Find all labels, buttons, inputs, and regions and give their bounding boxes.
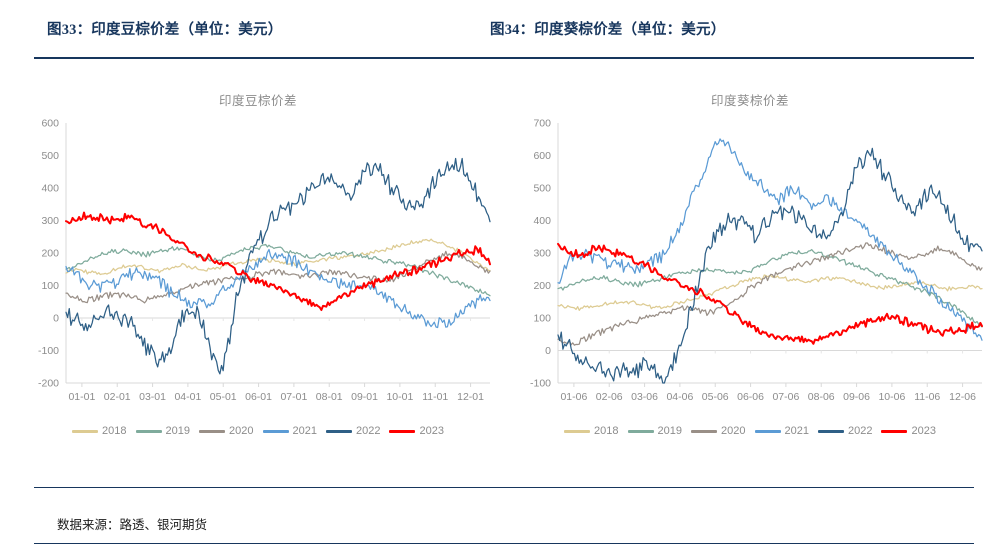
legend-item-2020[interactable]: 2020	[199, 425, 253, 437]
svg-text:500: 500	[533, 183, 551, 195]
svg-text:-100: -100	[530, 378, 551, 390]
legend-item-2020[interactable]: 2020	[691, 425, 745, 437]
legend-label-2021: 2021	[785, 425, 809, 437]
legend-item-2019[interactable]: 2019	[628, 425, 682, 437]
legend-swatch-2022	[326, 430, 352, 433]
svg-text:600: 600	[533, 150, 551, 162]
legend-label-2020: 2020	[721, 425, 745, 437]
legend-label-2023: 2023	[911, 425, 935, 437]
svg-text:07-06: 07-06	[772, 391, 799, 403]
svg-text:01-06: 01-06	[560, 391, 587, 403]
svg-text:12-01: 12-01	[457, 391, 484, 403]
svg-text:0: 0	[53, 313, 59, 325]
legend-item-2018[interactable]: 2018	[564, 425, 618, 437]
svg-text:05-06: 05-06	[702, 391, 729, 403]
chart-title-right: 印度葵棕价差	[510, 90, 990, 109]
legend-label-2023: 2023	[419, 425, 443, 437]
svg-text:03-06: 03-06	[631, 391, 658, 403]
chart-title-left: 印度豆棕价差	[18, 90, 498, 109]
svg-text:-100: -100	[38, 345, 59, 357]
svg-text:03-01: 03-01	[139, 391, 166, 403]
legend-item-2023[interactable]: 2023	[881, 425, 935, 437]
svg-text:100: 100	[533, 313, 551, 325]
chart-sun-palm-spread: 印度葵棕价差 7006005004003002001000-10001-0602…	[510, 70, 990, 480]
legend-label-2022: 2022	[848, 425, 872, 437]
plot-area-left: 6005004003002001000-100-20001-0102-0103-…	[18, 111, 498, 421]
svg-text:300: 300	[533, 248, 551, 260]
legend-label-2021: 2021	[293, 425, 317, 437]
svg-text:11-06: 11-06	[914, 391, 940, 403]
legend-item-2019[interactable]: 2019	[136, 425, 190, 437]
legend-swatch-2021	[755, 430, 781, 433]
legend-swatch-2020	[199, 430, 225, 433]
legend-left: 201820192020202120222023	[18, 425, 498, 437]
chart-soy-palm-spread: 印度豆棕价差 6005004003002001000-100-20001-010…	[18, 70, 498, 480]
svg-text:400: 400	[41, 183, 59, 195]
svg-text:700: 700	[533, 118, 551, 130]
svg-text:08-01: 08-01	[316, 391, 343, 403]
svg-text:06-06: 06-06	[737, 391, 764, 403]
svg-text:07-01: 07-01	[280, 391, 307, 403]
svg-text:02-06: 02-06	[596, 391, 623, 403]
legend-label-2019: 2019	[166, 425, 190, 437]
svg-text:04-06: 04-06	[666, 391, 693, 403]
figure-33-title: 图33：印度豆棕价差（单位：美元）	[47, 18, 282, 39]
legend-item-2021[interactable]: 2021	[263, 425, 317, 437]
svg-text:08-06: 08-06	[808, 391, 835, 403]
legend-swatch-2023	[389, 430, 415, 433]
legend-swatch-2018	[72, 430, 98, 433]
svg-text:05-01: 05-01	[210, 391, 237, 403]
legend-label-2018: 2018	[102, 425, 126, 437]
figure-titles: 图33：印度豆棕价差（单位：美元） 图34：印度葵棕价差（单位：美元）	[0, 18, 1008, 48]
legend-label-2022: 2022	[356, 425, 380, 437]
legend-swatch-2020	[691, 430, 717, 433]
svg-text:01-01: 01-01	[68, 391, 95, 403]
header-divider	[34, 57, 974, 59]
legend-item-2022[interactable]: 2022	[326, 425, 380, 437]
svg-text:04-01: 04-01	[174, 391, 201, 403]
svg-text:400: 400	[533, 215, 551, 227]
legend-label-2019: 2019	[658, 425, 682, 437]
legend-right: 201820192020202120222023	[510, 425, 990, 437]
svg-text:02-01: 02-01	[104, 391, 131, 403]
line-chart-left: 6005004003002001000-100-20001-0102-0103-…	[18, 111, 498, 421]
report-page: 图33：印度豆棕价差（单位：美元） 图34：印度葵棕价差（单位：美元） 印度豆棕…	[0, 0, 1008, 549]
svg-text:200: 200	[533, 280, 551, 292]
legend-swatch-2018	[564, 430, 590, 433]
line-chart-right: 7006005004003002001000-10001-0602-0603-0…	[510, 111, 990, 421]
svg-text:0: 0	[545, 345, 551, 357]
legend-swatch-2023	[881, 430, 907, 433]
legend-item-2022[interactable]: 2022	[818, 425, 872, 437]
legend-swatch-2019	[628, 430, 654, 433]
legend-label-2020: 2020	[229, 425, 253, 437]
figure-34-title: 图34：印度葵棕价差（单位：美元）	[490, 18, 725, 39]
legend-item-2021[interactable]: 2021	[755, 425, 809, 437]
legend-item-2018[interactable]: 2018	[72, 425, 126, 437]
svg-text:500: 500	[41, 150, 59, 162]
svg-text:600: 600	[41, 118, 59, 130]
legend-swatch-2019	[136, 430, 162, 433]
charts-divider	[34, 487, 974, 488]
svg-text:12-06: 12-06	[949, 391, 976, 403]
svg-text:11-01: 11-01	[422, 391, 448, 403]
plot-area-right: 7006005004003002001000-10001-0602-0603-0…	[510, 111, 990, 421]
legend-swatch-2021	[263, 430, 289, 433]
legend-swatch-2022	[818, 430, 844, 433]
data-source-note: 数据来源：路透、银河期货	[57, 514, 207, 533]
footer-divider	[34, 543, 974, 544]
svg-text:06-01: 06-01	[245, 391, 272, 403]
svg-text:10-01: 10-01	[386, 391, 413, 403]
svg-text:100: 100	[41, 280, 59, 292]
svg-text:09-06: 09-06	[843, 391, 870, 403]
svg-text:09-01: 09-01	[351, 391, 378, 403]
svg-text:200: 200	[41, 248, 59, 260]
legend-label-2018: 2018	[594, 425, 618, 437]
legend-item-2023[interactable]: 2023	[389, 425, 443, 437]
svg-text:-200: -200	[38, 378, 59, 390]
svg-text:10-06: 10-06	[878, 391, 905, 403]
svg-text:300: 300	[41, 215, 59, 227]
